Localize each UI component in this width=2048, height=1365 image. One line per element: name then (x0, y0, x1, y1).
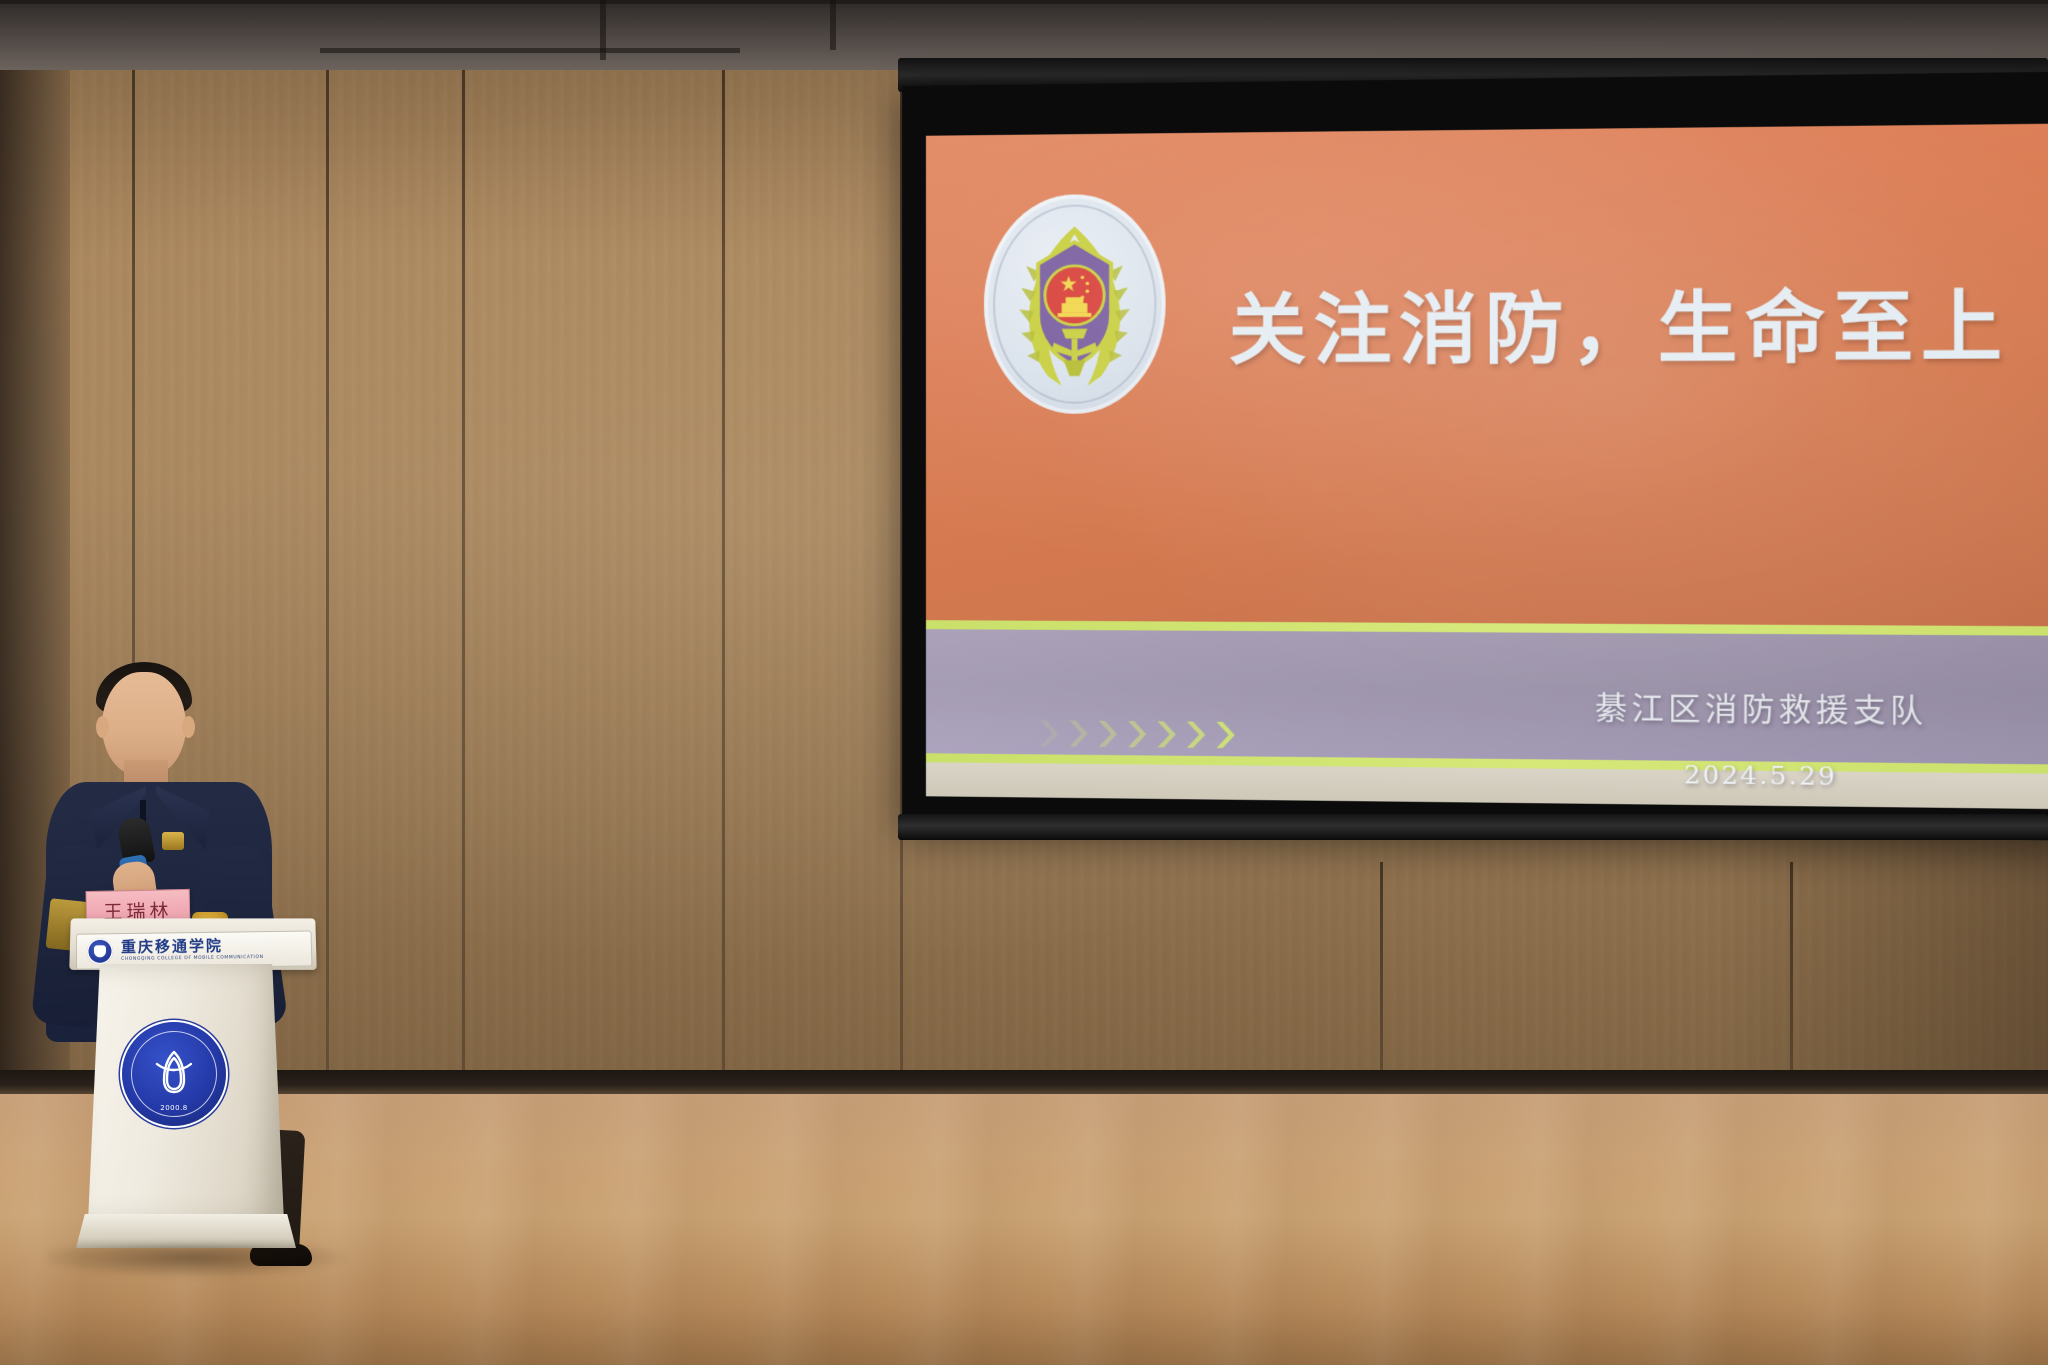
ceiling-seam (320, 48, 740, 53)
slide-info-band: 綦江区消防救援支队 2024.5.29 (926, 629, 2048, 764)
podium-nameplate-en: CHONGQING COLLEGE OF MOBILE COMMUNICATIO… (121, 956, 264, 962)
projection-screen-assembly: 关注消防，生命至上 (898, 58, 2048, 848)
screen-frame: 关注消防，生命至上 (902, 71, 2048, 840)
slide-title: 关注消防，生命至上 (1229, 288, 2010, 369)
podium: 重庆移通学院 CHONGQING COLLEGE OF MOBILE COMMU… (78, 918, 308, 1268)
collar-pin-icon (162, 832, 184, 850)
podium-base (76, 1214, 296, 1248)
emblem-svg (1000, 212, 1149, 400)
chevron-right-icon (1097, 719, 1123, 749)
chevron-right-icon (1126, 719, 1152, 749)
podium-nameplate-cn: 重庆移通学院 (121, 938, 264, 955)
china-fire-rescue-emblem-icon (984, 194, 1166, 414)
slide-org-block: 綦江区消防救援支队 2024.5.29 (1595, 682, 1927, 792)
chevron-arrows-icon (1038, 718, 1241, 750)
podium-nameplate-texts: 重庆移通学院 CHONGQING COLLEGE OF MOBILE COMMU… (121, 938, 264, 962)
ceiling-seam (0, 0, 2048, 4)
slide-title-band: 关注消防，生命至上 (926, 124, 2048, 627)
chevron-right-icon (1214, 720, 1240, 751)
college-logo-icon (87, 938, 113, 964)
college-emblem-icon: 2000.8 (122, 1022, 226, 1126)
chevron-right-icon (1185, 719, 1211, 750)
chevron-right-icon (1038, 718, 1064, 748)
ceiling-seam (830, 0, 836, 50)
college-emblem-mark (148, 1046, 200, 1098)
chevron-right-icon (1067, 718, 1093, 748)
screen-bottom-weight-bar (898, 814, 2048, 840)
chevron-right-icon (1155, 719, 1181, 750)
slide-date: 2024.5.29 (1595, 759, 1927, 792)
presentation-slide: 关注消防，生命至上 (926, 124, 2048, 810)
speaker-ear-left (96, 716, 109, 738)
speaker-ear-right (182, 716, 195, 738)
podium-nameplate: 重庆移通学院 CHONGQING COLLEGE OF MOBILE COMMU… (76, 930, 312, 969)
lecture-hall-scene: 关注消防，生命至上 (0, 0, 2048, 1365)
screen-surface: 关注消防，生命至上 (926, 124, 2048, 810)
slide-organization: 綦江区消防救援支队 (1595, 682, 1927, 731)
college-emblem-year: 2000.8 (122, 1104, 226, 1112)
podium-floor-shadow (48, 1244, 348, 1278)
